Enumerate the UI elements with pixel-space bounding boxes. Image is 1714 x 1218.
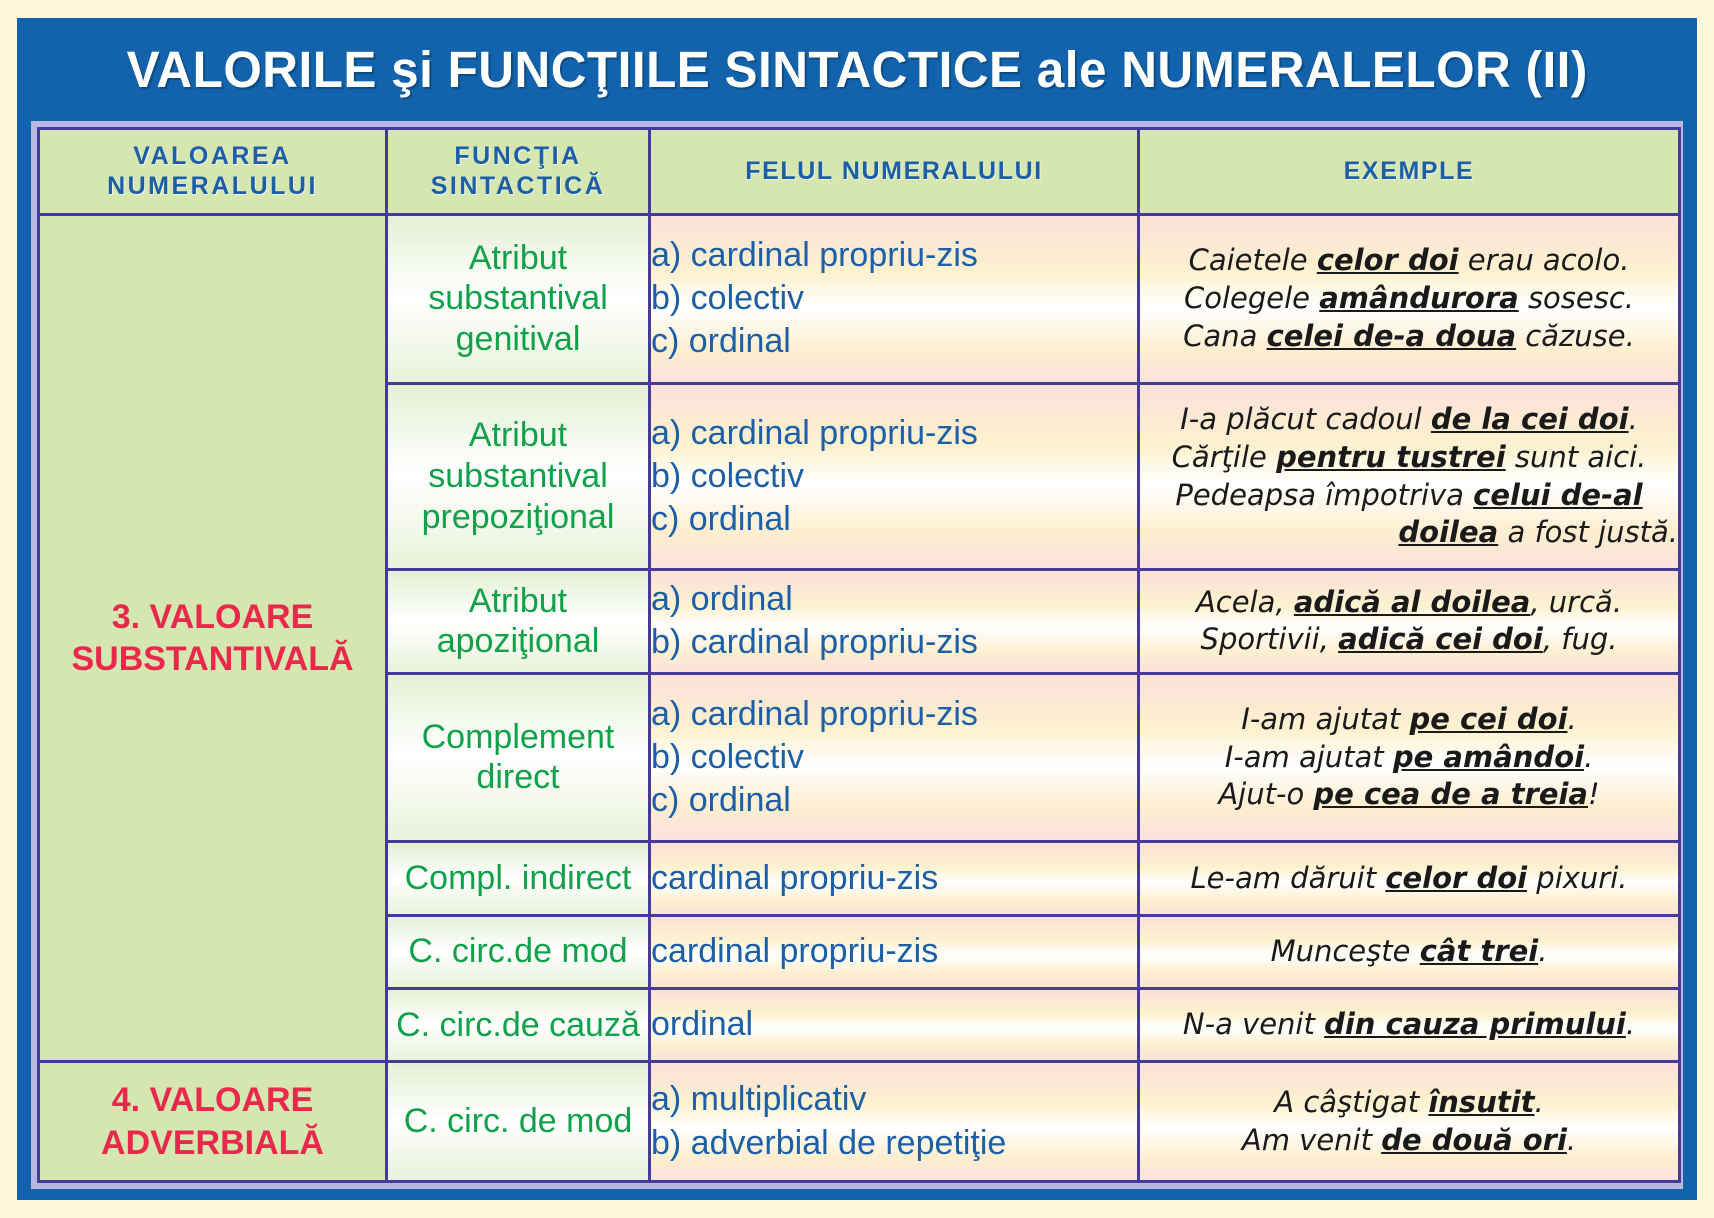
example-sentence: doilea a fost justă. (1140, 514, 1678, 552)
example-highlight: din cauza primului (1324, 1007, 1626, 1041)
numeral-kind-cell: a) multiplicativb) adverbial de repetiţi… (650, 1062, 1139, 1182)
numeral-kind-cell: a) cardinal propriu-zisb) colectivc) ord… (650, 215, 1139, 384)
example-highlight: celei de-a doua (1267, 319, 1517, 353)
example-highlight: însutit (1428, 1085, 1534, 1119)
example-sentence: A câştigat însutit. (1140, 1084, 1678, 1122)
numerals-table: VALOAREA NUMERALULUI FUNCŢIA SINTACTICĂ … (37, 127, 1681, 1183)
header-label: FUNCŢIA SINTACTICĂ (431, 142, 606, 200)
examples-cell: I-a plăcut cadoul de la cei doi.Cărţile … (1139, 383, 1680, 570)
example-highlight: pe cea de a treia (1313, 777, 1588, 811)
example-sentence: I-a plăcut cadoul de la cei doi. (1140, 401, 1678, 439)
header-felul-numeralului: FELUL NUMERALULUI (650, 129, 1139, 215)
numeral-kind-line: b) colectiv (651, 277, 1137, 320)
numeral-kind-cell: a) cardinal propriu-zisb) colectivc) ord… (650, 383, 1139, 570)
example-highlight: cât trei (1420, 934, 1539, 968)
numeral-kind-line: c) ordinal (651, 320, 1137, 363)
example-highlight: adică cei doi (1338, 622, 1543, 656)
example-highlight: pe amândoi (1393, 740, 1584, 774)
examples-cell: N-a venit din cauza primului. (1139, 988, 1680, 1061)
header-label: EXEMPLE (1344, 157, 1475, 185)
example-sentence: Acela, adică al doilea, urcă. (1140, 584, 1678, 622)
table-row: 4. VALOARE ADVERBIALĂC. circ. de moda) m… (39, 1062, 1680, 1182)
examples-cell: Munceşte cât trei. (1139, 915, 1680, 988)
example-highlight: doilea (1398, 515, 1498, 549)
example-highlight: celor doi (1385, 861, 1527, 895)
syntactic-function-cell: Compl. indirect (387, 842, 650, 915)
numeral-kind-cell: a) ordinalb) cardinal propriu-zis (650, 570, 1139, 673)
syntactic-function-cell: C. circ.de cauză (387, 988, 650, 1061)
numeral-kind-line: c) ordinal (651, 498, 1137, 541)
syntactic-function-cell: Atribut apoziţional (387, 570, 650, 673)
numeral-kind-cell: cardinal propriu-zis (650, 915, 1139, 988)
example-highlight: amândurora (1319, 281, 1519, 315)
syntactic-function-cell: Complement direct (387, 673, 650, 842)
page-title: VALORILE şi FUNCŢIILE SINTACTICE ale NUM… (126, 40, 1587, 99)
blue-frame: VALORILE şi FUNCŢIILE SINTACTICE ale NUM… (17, 18, 1697, 1200)
example-sentence: Cărţile pentru tustrei sunt aici. (1140, 439, 1678, 477)
examples-cell: I-am ajutat pe cei doi.I-am ajutat pe am… (1139, 673, 1680, 842)
table-head: VALOAREA NUMERALULUI FUNCŢIA SINTACTICĂ … (39, 129, 1680, 215)
examples-cell: A câştigat însutit.Am venit de două ori. (1139, 1062, 1680, 1182)
example-sentence: Sportivii, adică cei doi, fug. (1140, 621, 1678, 659)
table-frame: VALOAREA NUMERALULUI FUNCŢIA SINTACTICĂ … (31, 121, 1683, 1189)
example-sentence: Caietele celor doi erau acolo. (1140, 242, 1678, 280)
table-body: 3. VALOARE SUBSTANTIVALĂAtribut substant… (39, 215, 1680, 1182)
example-sentence: Pedeapsa împotriva celui de-al (1140, 477, 1678, 515)
examples-cell: Le-am dăruit celor doi pixuri. (1139, 842, 1680, 915)
header-functia-sintactica: FUNCŢIA SINTACTICĂ (387, 129, 650, 215)
syntactic-function-cell: C. circ.de mod (387, 915, 650, 988)
example-sentence: Le-am dăruit celor doi pixuri. (1140, 860, 1678, 898)
example-sentence: I-am ajutat pe cei doi. (1140, 701, 1678, 739)
numeral-kind-line: a) multiplicativ (651, 1078, 1137, 1121)
numeral-kind-line: b) adverbial de repetiţie (651, 1122, 1137, 1165)
poster-root: VALORILE şi FUNCŢIILE SINTACTICE ale NUM… (8, 8, 1706, 1210)
numeral-value-label: 4. VALOARE ADVERBIALĂ (39, 1062, 387, 1182)
header-label: VALOAREA NUMERALULUI (107, 142, 318, 200)
numeral-kind-line: cardinal propriu-zis (651, 930, 1137, 973)
example-sentence: Am venit de două ori. (1140, 1122, 1678, 1160)
syntactic-function-cell: Atribut substantival prepoziţional (387, 383, 650, 570)
examples-cell: Acela, adică al doilea, urcă.Sportivii, … (1139, 570, 1680, 673)
examples-cell: Caietele celor doi erau acolo.Colegele a… (1139, 215, 1680, 384)
header-exemple: EXEMPLE (1139, 129, 1680, 215)
numeral-value-label: 3. VALOARE SUBSTANTIVALĂ (39, 215, 387, 1062)
example-sentence: I-am ajutat pe amândoi. (1140, 739, 1678, 777)
example-sentence: N-a venit din cauza primului. (1140, 1006, 1678, 1044)
syntactic-function-cell: C. circ. de mod (387, 1062, 650, 1182)
numeral-kind-line: ordinal (651, 1003, 1137, 1046)
numeral-kind-line: a) cardinal propriu-zis (651, 412, 1137, 455)
numeral-kind-line: a) cardinal propriu-zis (651, 234, 1137, 277)
example-highlight: adică al doilea (1294, 585, 1531, 619)
numeral-kind-line: a) ordinal (651, 578, 1137, 621)
numeral-kind-cell: ordinal (650, 988, 1139, 1061)
numeral-kind-line: a) cardinal propriu-zis (651, 693, 1137, 736)
example-sentence: Colegele amândurora sosesc. (1140, 280, 1678, 318)
example-sentence: Ajut-o pe cea de a treia! (1140, 776, 1678, 814)
example-sentence: Cana celei de-a doua căzuse. (1140, 318, 1678, 356)
title-banner: VALORILE şi FUNCŢIILE SINTACTICE ale NUM… (17, 18, 1697, 120)
numeral-kind-line: b) colectiv (651, 736, 1137, 779)
numeral-kind-line: c) ordinal (651, 779, 1137, 822)
header-label: FELUL NUMERALULUI (745, 157, 1043, 185)
example-sentence: Munceşte cât trei. (1140, 933, 1678, 971)
numeral-kind-line: b) colectiv (651, 455, 1137, 498)
header-row: VALOAREA NUMERALULUI FUNCŢIA SINTACTICĂ … (39, 129, 1680, 215)
numeral-kind-cell: cardinal propriu-zis (650, 842, 1139, 915)
table-row: 3. VALOARE SUBSTANTIVALĂAtribut substant… (39, 215, 1680, 384)
syntactic-function-cell: Atribut substantival genitival (387, 215, 650, 384)
numeral-kind-cell: a) cardinal propriu-zisb) colectivc) ord… (650, 673, 1139, 842)
example-highlight: pentru tustrei (1276, 440, 1506, 474)
numeral-kind-line: b) cardinal propriu-zis (651, 621, 1137, 664)
header-valoarea-numeralului: VALOAREA NUMERALULUI (39, 129, 387, 215)
example-highlight: de două ori (1381, 1123, 1567, 1157)
example-highlight: celui de-al (1473, 478, 1642, 512)
example-highlight: celor doi (1317, 243, 1459, 277)
example-highlight: pe cei doi (1409, 702, 1567, 736)
numeral-kind-line: cardinal propriu-zis (651, 857, 1137, 900)
example-highlight: de la cei doi (1431, 402, 1629, 436)
